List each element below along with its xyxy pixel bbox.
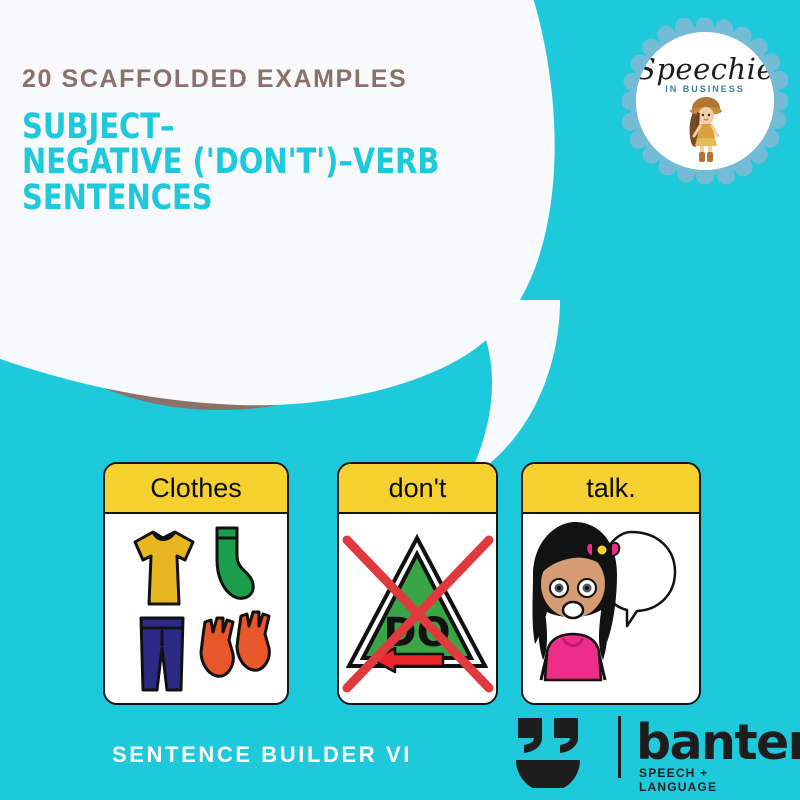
kicker-text: 20 SCAFFOLDED EXAMPLES (22, 66, 542, 94)
card-image-clothes (105, 514, 287, 704)
sentence-card-subject[interactable]: Clothes (103, 462, 289, 705)
poster-canvas: 20 SCAFFOLDED EXAMPLES SUBJECT– NEGATIVE… (0, 0, 800, 800)
gloves-icon (201, 612, 269, 676)
speechies-badge: Speechies IN BUSINESS (622, 18, 788, 184)
badge-inner-face: Speechies IN BUSINESS (636, 32, 774, 170)
tshirt-icon (135, 532, 193, 604)
sentence-card-row: Clothes (0, 462, 800, 712)
badge-subtitle: IN BUSINESS (636, 84, 774, 94)
card-image-dont: DO (339, 514, 496, 704)
card-label-clothes: Clothes (105, 464, 287, 514)
vertical-rule-icon (618, 716, 621, 778)
sentence-card-negative[interactable]: don't DO (337, 462, 498, 705)
girl-face-icon (533, 522, 620, 680)
banter-logo: banter SPEECH + LANGUAGE (508, 712, 788, 790)
headline-block: 20 SCAFFOLDED EXAMPLES SUBJECT– NEGATIVE… (22, 66, 542, 217)
sentence-card-verb[interactable]: talk. (521, 462, 701, 705)
series-label: SENTENCE BUILDER VI (112, 742, 412, 768)
badge-script-text: Speechies (636, 52, 774, 86)
sock-icon (217, 528, 253, 598)
card-label-dont: don't (339, 464, 496, 514)
hair-bow-icon (586, 543, 619, 556)
card-image-talk (523, 514, 699, 704)
banter-tagline: SPEECH + LANGUAGE (639, 766, 788, 794)
smiley-quotes-face-icon (508, 712, 608, 788)
banter-wordmark: banter (636, 714, 800, 771)
woman-illustration-icon (680, 94, 732, 164)
jeans-icon (141, 618, 183, 690)
card-label-talk: talk. (523, 464, 699, 514)
page-title: SUBJECT– NEGATIVE ('DON'T')–VERB SENTENC… (22, 110, 500, 217)
